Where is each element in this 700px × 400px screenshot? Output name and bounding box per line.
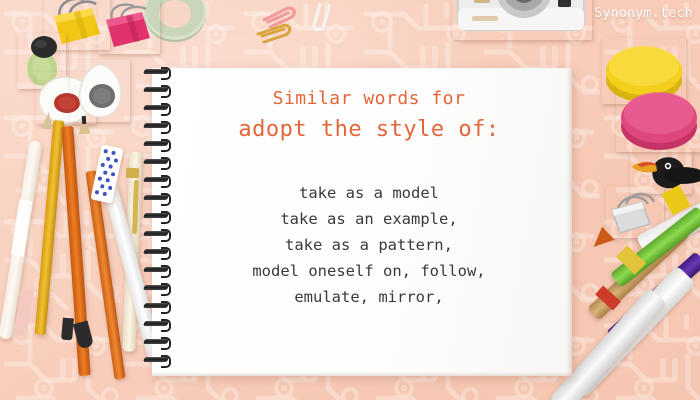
black-swoosh [660,164,700,198]
synonym-line: take as a pattern, [176,232,562,258]
spiral-ring [144,302,170,309]
synonym-card-content: Similar words for adopt the style of: ta… [176,84,562,310]
spiral-ring [144,320,170,327]
button-gray [70,60,130,122]
page-edge-right [567,68,572,376]
synonym-list: take as a model take as an example, take… [176,180,562,310]
spiral-ring [144,68,170,75]
spiral-ring [144,230,170,237]
spiral-ring [144,194,170,201]
spiral-ring [144,122,170,129]
macaron-pink [616,84,700,152]
spiral-ring [144,104,170,111]
pen-cream-band [126,168,139,178]
pencil-yellow-ferrule [61,318,74,341]
spiral-ring [144,284,170,291]
synonym-line: model oneself on, follow, [176,258,562,284]
synonym-line: take as an example, [176,206,562,232]
site-watermark: Synonym.tech [594,6,693,21]
pencil-yellow-tip [41,112,54,130]
synonym-line: take as a model [176,180,562,206]
spiral-ring [144,266,170,273]
pencil-orange-lead [82,116,87,124]
spiral-ring [144,158,170,165]
spiral-binding [140,66,176,378]
screenshot-root: Similar words for adopt the style of: ta… [0,0,700,400]
spiral-ring [144,212,170,219]
spiral-ring [144,356,170,363]
spiral-ring [144,176,170,183]
spiral-ring [144,86,170,93]
paperclip-gold [252,20,300,44]
spiral-ring [144,140,170,147]
card-title-line-1: Similar words for [176,84,562,114]
spiral-ring [144,338,170,345]
page-edge-bottom [152,372,572,376]
binder-clip-pink [98,0,160,54]
card-title-line-2: adopt the style of: [176,114,562,146]
synonym-line: emulate, mirror, [176,284,562,310]
camera [452,0,592,40]
paperclip-white [300,0,340,34]
spiral-ring [144,248,170,255]
